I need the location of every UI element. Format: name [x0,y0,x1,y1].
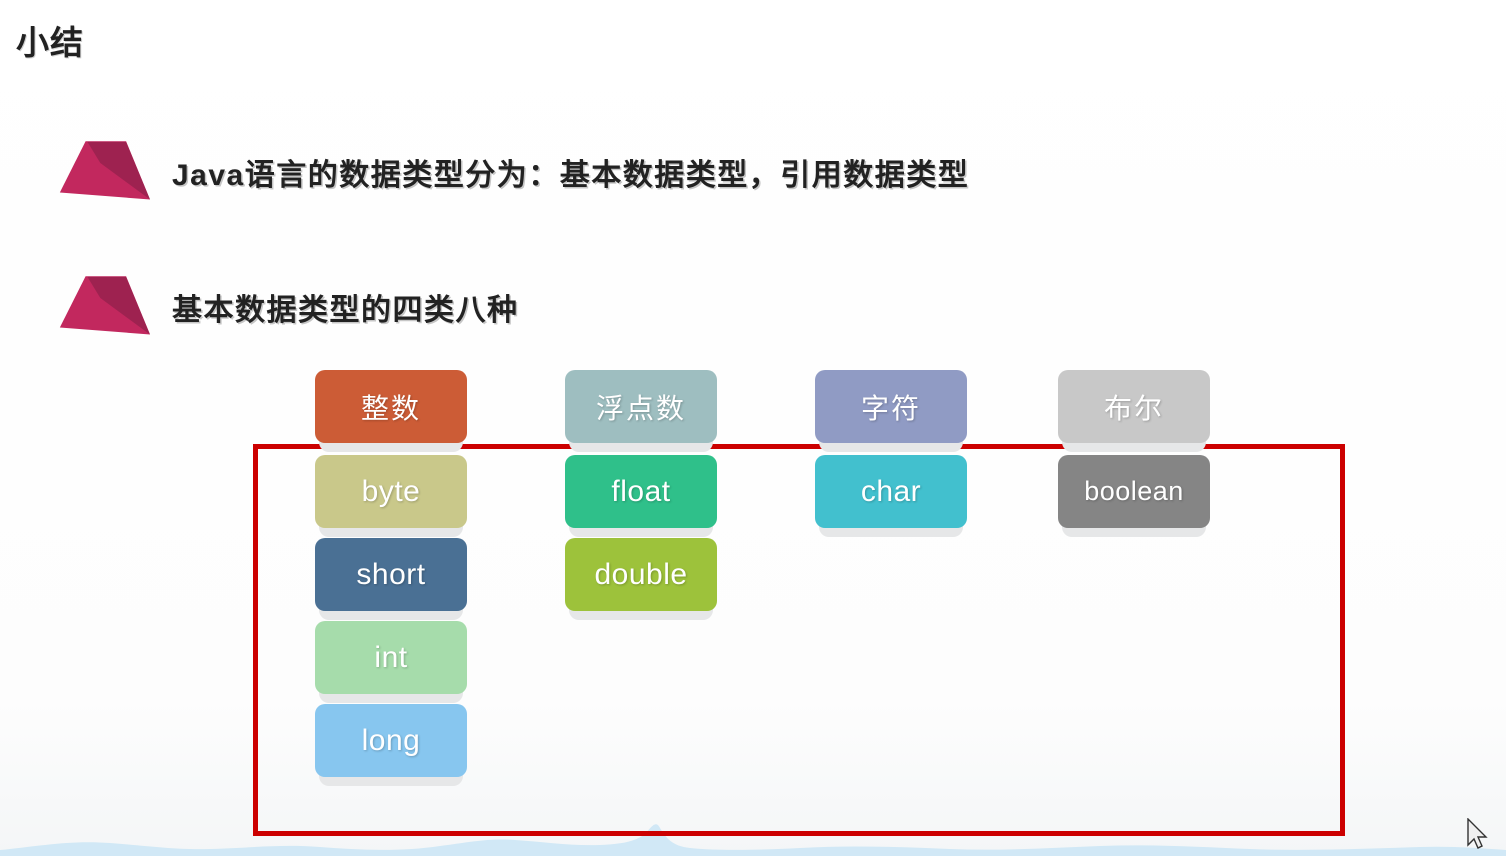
type-chip-label: byte [362,475,421,509]
type-chip-label: boolean [1084,476,1184,507]
category-header-label: 整数 [361,387,421,427]
mouse-pointer-icon [1466,818,1490,852]
type-chip-label: double [594,558,687,592]
category-header-character: 字符 [815,370,967,443]
type-chip-float: float [565,455,717,528]
type-chip-char: char [815,455,967,528]
type-chip-label: int [374,641,407,675]
slide-canvas: 小结 Java语言的数据类型分为：基本数据类型，引用数据类型 基本数据类型的四类… [0,0,1506,856]
type-chip-boolean: boolean [1058,455,1210,528]
datatype-diagram: 整数 byte short int long [0,0,1506,856]
category-header-floating-point: 浮点数 [565,370,717,443]
column-integer: 整数 byte short int long [315,370,467,787]
type-chip-int: int [315,621,467,694]
type-chip-label: long [362,724,421,758]
type-chip-double: double [565,538,717,611]
column-boolean: 布尔 boolean [1058,370,1210,538]
column-character: 字符 char [815,370,967,538]
type-chip-label: char [861,475,921,509]
type-chip-label: short [356,558,425,592]
column-floating-point: 浮点数 float double [565,370,717,621]
type-chip-long: long [315,704,467,777]
category-header-boolean: 布尔 [1058,370,1210,443]
type-chip-short: short [315,538,467,611]
category-header-label: 浮点数 [596,387,686,427]
type-chip-label: float [611,475,670,509]
category-header-integer: 整数 [315,370,467,443]
category-header-label: 布尔 [1104,387,1164,427]
type-chip-byte: byte [315,455,467,528]
category-header-label: 字符 [861,387,921,427]
